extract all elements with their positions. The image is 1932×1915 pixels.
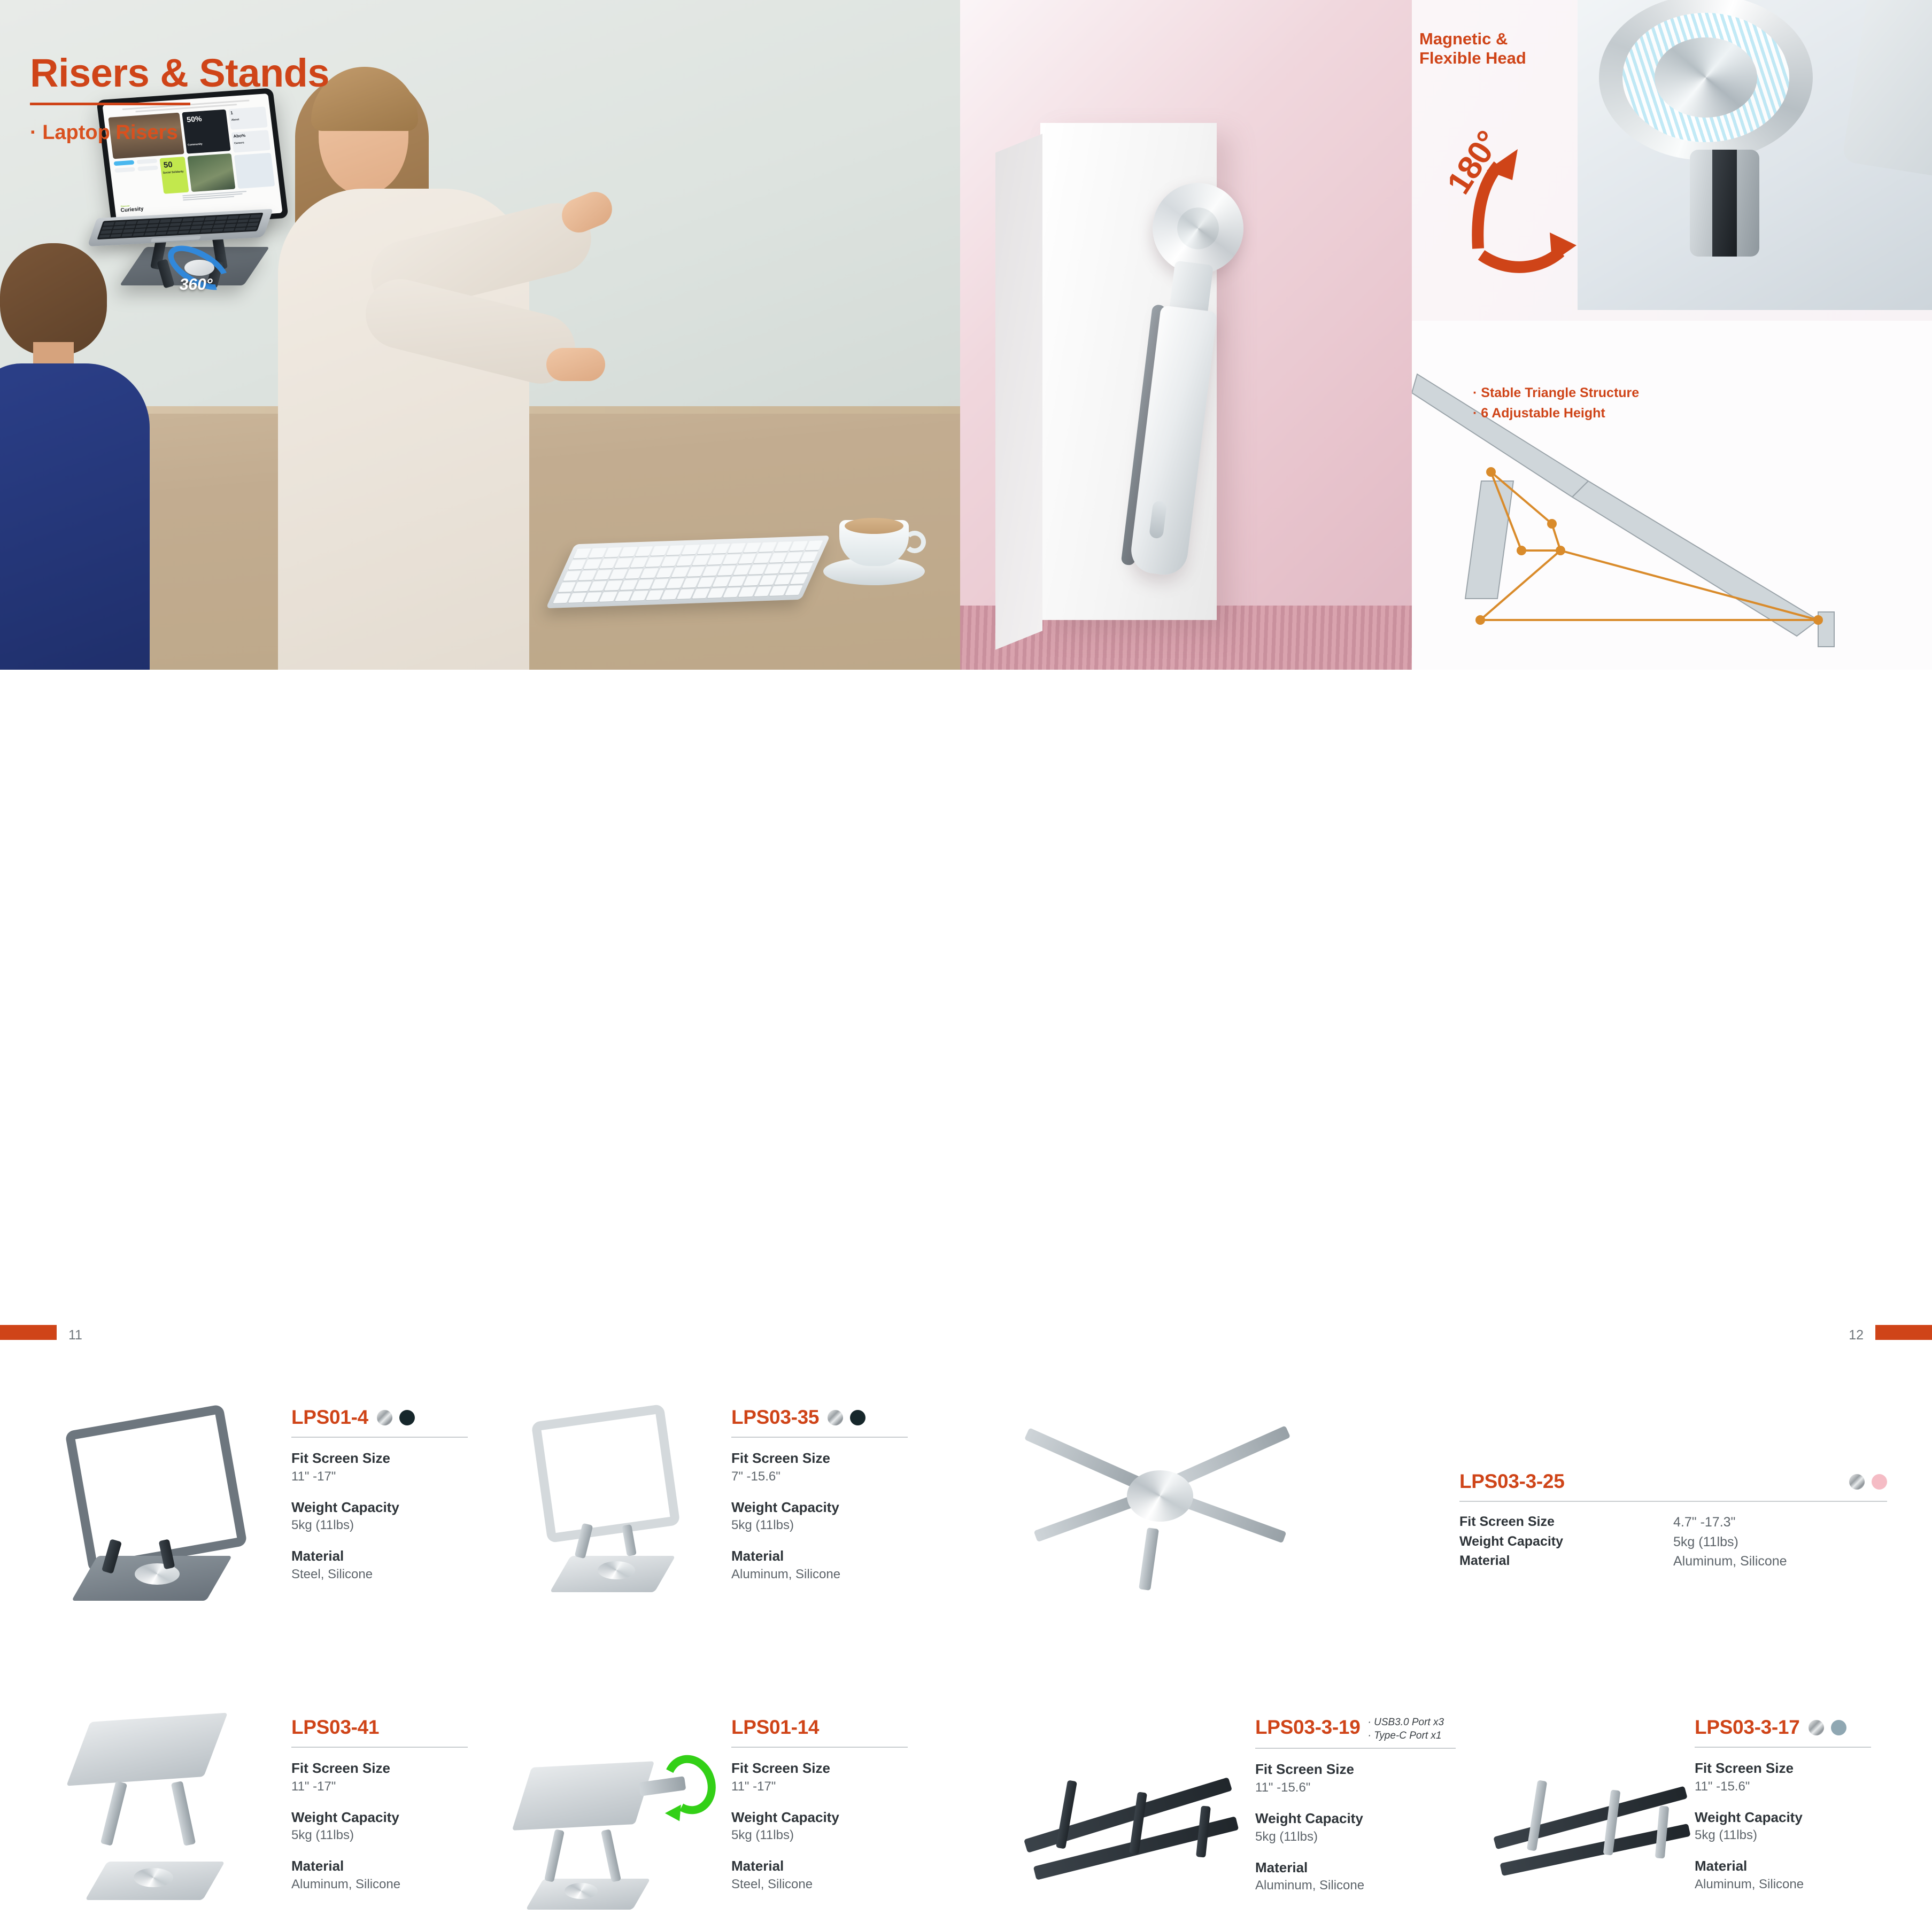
color-swatches[interactable] xyxy=(828,1410,865,1425)
product-port-specs: · USB3.0 Port x3 · Type-C Port x1 xyxy=(1368,1716,1444,1742)
product-sku: LPS01-4 xyxy=(291,1406,368,1429)
divider xyxy=(291,1747,468,1748)
color-swatches[interactable] xyxy=(1809,1720,1846,1735)
divider xyxy=(291,1437,468,1438)
spec-fit-screen-size: Fit Screen Size 11" -17" xyxy=(291,1449,468,1485)
spec-material: Material Steel, Silicone xyxy=(731,1857,908,1893)
photo-coffee-cup xyxy=(823,505,925,585)
product-sku: LPS01-14 xyxy=(731,1716,819,1739)
spec-material: Material Aluminum, Silicone xyxy=(1695,1857,1908,1893)
photo-magnetic-head xyxy=(1599,0,1823,171)
rotation-360-label: 360° xyxy=(179,276,214,294)
hero-feature-panel: Magnetic & Flexible Head 180° xyxy=(1412,0,1932,670)
spec-fit-screen-size: Fit Screen Size 11" -17" xyxy=(291,1759,468,1795)
divider xyxy=(1695,1747,1871,1748)
spec-material: Material Aluminum, Silicone xyxy=(291,1857,468,1893)
spec-fit-screen-size: Fit Screen Size 11" -15.6" xyxy=(1695,1759,1908,1795)
product-image-lps01-14 xyxy=(513,1733,716,1915)
feature-triangle-panel: · Stable Triangle Structure · 6 Adjustab… xyxy=(1412,321,1932,670)
spec-fit-screen-size: Fit Screen Size 11" -17" xyxy=(731,1759,908,1795)
product-lps03-3-25: LPS03-3-25 Fit Screen Size 4.7" -17.3" W… xyxy=(1459,1470,1887,1570)
feature-bullet-list: · Stable Triangle Structure · 6 Adjustab… xyxy=(1473,383,1639,423)
title-underline xyxy=(30,103,190,105)
feature-bullet-1: · Stable Triangle Structure xyxy=(1473,383,1639,404)
product-image-lps03-41 xyxy=(59,1701,283,1915)
color-swatches[interactable] xyxy=(377,1410,415,1425)
product-sku: LPS03-3-17 xyxy=(1695,1716,1800,1739)
swatch-silver[interactable] xyxy=(1849,1474,1865,1490)
feature-magnetic-head-photo: Magnetic & Flexible Head 180° xyxy=(1412,0,1932,321)
footer-accent-bar-left xyxy=(0,1325,57,1340)
footer-accent-bar-right xyxy=(1875,1325,1932,1340)
product-lps01-4: LPS01-4 Fit Screen Size 11" -17" Weight … xyxy=(291,1406,468,1583)
spec-weight-capacity: Weight Capacity 5kg (11lbs) xyxy=(291,1499,468,1534)
swatch-blue-grey[interactable] xyxy=(1831,1720,1846,1735)
triangle-structure-diagram xyxy=(1412,321,1932,670)
spec-weight-capacity: Weight Capacity 5kg (11lbs) xyxy=(731,1809,908,1844)
hero-band: 360° xyxy=(0,0,1932,670)
page-subtitle: · Laptop Risers xyxy=(30,121,329,144)
product-catalog: LPS01-4 Fit Screen Size 11" -17" Weight … xyxy=(0,670,1932,1363)
spec-fit-screen-size: Fit Screen Size 7" -15.6" xyxy=(731,1449,908,1485)
screen-tile-chart xyxy=(136,158,157,164)
rotation-180-badge: 180° xyxy=(1418,131,1579,286)
product-sku: LPS03-3-19 xyxy=(1255,1716,1361,1739)
screen-tile-lime: 50 Social Solidarity xyxy=(159,157,189,194)
product-sku: LPS03-3-25 xyxy=(1459,1470,1565,1493)
product-image-lps03-3-17 xyxy=(1481,1717,1705,1899)
port-spec-typec: · Type-C Port x1 xyxy=(1368,1730,1442,1741)
rotation-360-badge: 360° xyxy=(160,250,241,301)
swatch-black[interactable] xyxy=(850,1410,865,1425)
swatch-silver[interactable] xyxy=(1809,1720,1824,1735)
screen-tile-card xyxy=(114,167,135,173)
divider xyxy=(1255,1748,1456,1749)
hero-lifestyle-photo: 360° xyxy=(0,0,960,670)
color-swatches[interactable] xyxy=(1849,1474,1887,1490)
photo-boy-figure xyxy=(0,243,160,670)
product-image-lps03-35 xyxy=(497,1386,722,1632)
swatch-silver[interactable] xyxy=(828,1410,843,1425)
product-sku: LPS03-35 xyxy=(731,1406,819,1429)
product-image-lps03-3-19 xyxy=(1010,1717,1256,1899)
product-image-lps03-3-25 xyxy=(1000,1397,1331,1621)
spec-weight-capacity: Weight Capacity 5kg (11lbs) xyxy=(291,1809,468,1844)
screen-photo-people xyxy=(188,153,236,192)
photo-woman-figure xyxy=(283,45,690,670)
feature-bullet-2: · 6 Adjustable Height xyxy=(1473,404,1639,424)
divider xyxy=(1459,1501,1887,1502)
port-spec-usb: · USB3.0 Port x3 xyxy=(1368,1717,1444,1728)
product-lps01-14: LPS01-14 Fit Screen Size 11" -17" Weight… xyxy=(731,1716,908,1893)
swatch-black[interactable] xyxy=(399,1410,415,1425)
spec-material: Material Aluminum, Silicone xyxy=(731,1547,908,1583)
spec-material: Material Steel, Silicone xyxy=(291,1547,468,1583)
laptop-keyboard xyxy=(97,213,264,239)
photo-flexible-hinge xyxy=(1690,150,1759,257)
page-number-left: 11 xyxy=(68,1328,82,1343)
product-lps03-35: LPS03-35 Fit Screen Size 7" -15.6" Weigh… xyxy=(731,1406,908,1583)
spec-weight-capacity: Weight Capacity 5kg (11lbs) xyxy=(731,1499,908,1534)
product-image-lps01-4 xyxy=(5,1386,273,1632)
divider xyxy=(731,1747,908,1748)
rotation-arrow-icon xyxy=(656,1748,723,1821)
swatch-silver[interactable] xyxy=(377,1410,392,1425)
product-sku: LPS03-41 xyxy=(291,1716,379,1739)
screen-tile-add xyxy=(113,160,134,166)
divider xyxy=(731,1437,908,1438)
swatch-pink[interactable] xyxy=(1872,1474,1887,1490)
spec-table: Fit Screen Size 4.7" -17.3" Weight Capac… xyxy=(1459,1514,1887,1570)
screen-card-about-2 xyxy=(234,153,275,189)
hero-product-photo-pink xyxy=(960,0,1412,670)
product-lps03-41: LPS03-41 Fit Screen Size 11" -17" Weight… xyxy=(291,1716,468,1893)
screen-tile-shield xyxy=(137,165,158,171)
feature-callout-magnetic: Magnetic & Flexible Head xyxy=(1419,29,1526,67)
page-number-right: 12 xyxy=(1849,1328,1864,1343)
page-title-text: Risers & Stands xyxy=(30,53,329,93)
photo-tablet-edge xyxy=(1842,0,1932,179)
spec-weight-capacity: Weight Capacity 5kg (11lbs) xyxy=(1695,1809,1908,1844)
page-title: Risers & Stands · Laptop Risers xyxy=(30,53,329,144)
product-lps03-3-17: LPS03-3-17 Fit Screen Size 11" -15.6" We… xyxy=(1695,1716,1908,1893)
